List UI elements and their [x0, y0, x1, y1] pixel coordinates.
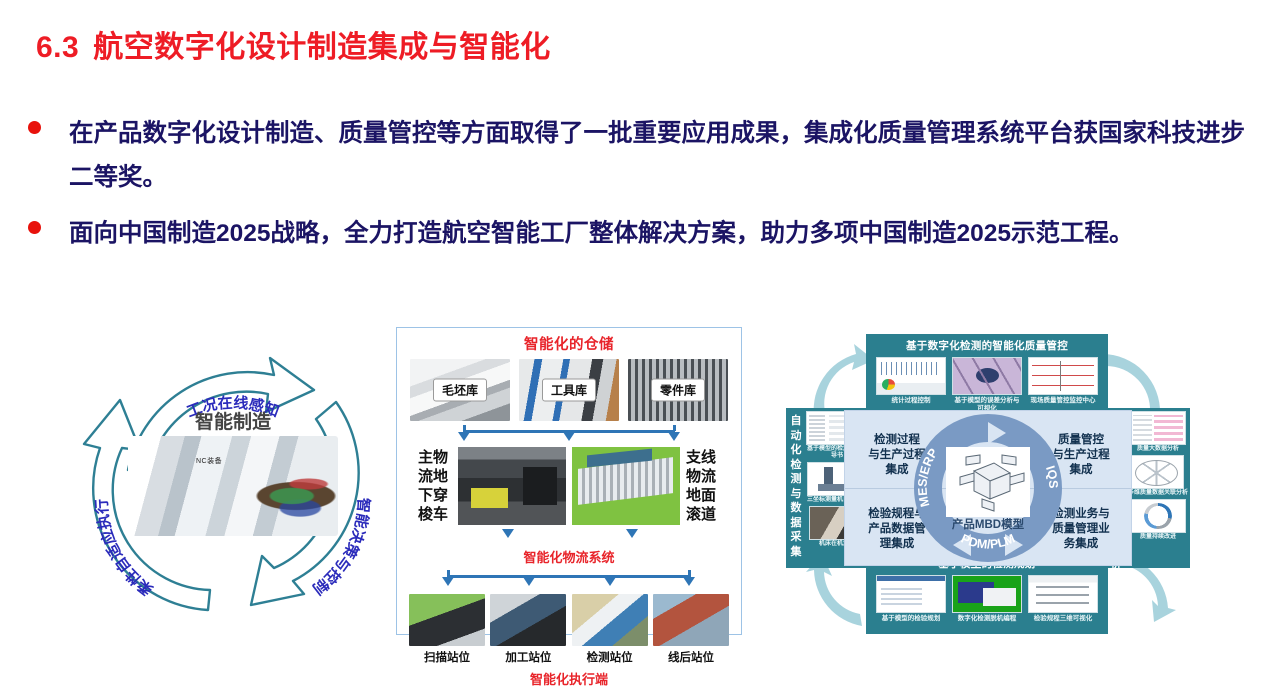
arrow-bus-bottom	[397, 570, 741, 592]
3d-visualization-photo	[1028, 575, 1098, 613]
station-photo	[490, 594, 566, 646]
ground-roller-photo	[572, 447, 680, 525]
storage-label: 零件库	[651, 379, 705, 402]
bottom-panel-thumb: 数字化检测脱机编程	[952, 575, 1022, 623]
station-photo	[409, 594, 485, 646]
correlation-network-photo	[1128, 455, 1184, 489]
logistics-row: 主物流地下穿梭车 支线物流地面滚道	[397, 447, 741, 525]
nc-machine-caption: NC装备	[196, 456, 222, 466]
continuous-improvement-photo	[1130, 499, 1186, 533]
bullet-item: 在产品数字化设计制造、质量管控等方面取得了一批重要应用成果，集成化质量管理系统平…	[28, 112, 1254, 200]
transport-left-label: 主物流地下穿梭车	[418, 448, 452, 524]
thumb-caption: 现场质量管控监控中心	[1028, 397, 1098, 405]
station-photo	[653, 594, 729, 646]
execution-end-title: 智能化执行端	[397, 669, 741, 688]
top-panel-thumb: 统计过程控制	[876, 357, 946, 413]
figure-smart-manufacturing-wheel: 工况在线感知 智能决策与控制 柔性自适应执行 智能制造 NC装备	[78, 328, 388, 638]
underground-shuttle-photo	[458, 447, 566, 525]
warehouse-title: 智能化的仓储	[397, 333, 741, 354]
storage-label: 工具库	[542, 379, 596, 402]
stations-row: 扫描站位 加工站位 检测站位 线后站位	[397, 594, 741, 665]
arrow-bus-top	[397, 425, 741, 447]
quality-top-panel: 基于数字化检测的智能化质量管控 统计过程控制 基于模型的误差分析与可视化 现场质…	[866, 334, 1108, 416]
storage-label: 毛坯库	[433, 379, 487, 402]
right-panel-thumb: 多维质量数据关联分析	[1128, 455, 1188, 497]
figure-quality-management-loop: 基于数字化检测的智能化质量管控 统计过程控制 基于模型的误差分析与可视化 现场质…	[778, 322, 1266, 642]
deviation-map-photo	[952, 357, 1022, 395]
thumb-caption: 多维质量数据关联分析	[1128, 490, 1188, 497]
monitor-center-photo	[1028, 357, 1098, 395]
thumb-caption: 数字化检测脱机编程	[952, 615, 1022, 623]
bullet-list: 在产品数字化设计制造、质量管控等方面取得了一批重要应用成果，集成化质量管理系统平…	[28, 112, 1254, 268]
station-label: 检测站位	[572, 649, 648, 665]
bullet-text: 在产品数字化设计制造、质量管控等方面取得了一批重要应用成果，集成化质量管理系统平…	[69, 112, 1254, 200]
quality-center-panel: 检测过程与生产过程集成 质量管控与生产过程集成 检验规程与产品数据管理集成 检测…	[844, 410, 1132, 566]
storage-row: 毛坯库 工具库 零件库	[397, 354, 741, 421]
nc-machine-photo	[128, 436, 338, 536]
left-panel-title: 自动化检测与数据采集	[786, 408, 806, 568]
storage-cell: 工具库	[519, 359, 619, 421]
logistics-system-title: 智能化物流系统	[397, 547, 741, 566]
mbd-model-label: 产品MBD模型	[952, 519, 1024, 531]
station-label: 扫描站位	[409, 649, 485, 665]
right-panel-thumb: 质量大数据分析	[1130, 411, 1186, 453]
station-photo	[572, 594, 648, 646]
storage-cell: 零件库	[628, 359, 728, 421]
page-title: 6.3航空数字化设计制造集成与智能化	[36, 22, 551, 66]
spc-chart-photo	[876, 357, 946, 395]
arrow-bus-mid	[397, 529, 741, 545]
station-label: 加工站位	[490, 649, 566, 665]
offline-programming-photo	[952, 575, 1022, 613]
mbd-model-label-wrap: 产品MBD模型	[845, 515, 1131, 533]
mbd-model-photo	[946, 447, 1030, 517]
station-item: 加工站位	[490, 594, 566, 665]
thumb-caption: 质量大数据分析	[1130, 446, 1186, 453]
bottom-panel-thumb: 检验规程三维可视化	[1028, 575, 1098, 623]
thumb-caption: 检验规程三维可视化	[1028, 615, 1098, 623]
title-number: 6.3	[36, 31, 79, 64]
transport-right-label: 支线物流地面滚道	[686, 448, 720, 524]
big-data-table-photo	[1130, 411, 1186, 445]
top-panel-thumb: 基于模型的误差分析与可视化	[952, 357, 1022, 413]
storage-cell: 毛坯库	[410, 359, 510, 421]
thumb-caption: 质量持续改进	[1130, 534, 1186, 541]
station-item: 扫描站位	[409, 594, 485, 665]
figures-row: 工况在线感知 智能决策与控制 柔性自适应执行 智能制造 NC装备 智能化的仓储 …	[0, 318, 1268, 658]
station-item: 检测站位	[572, 594, 648, 665]
top-panel-thumb: 现场质量管控监控中心	[1028, 357, 1098, 413]
title-text: 航空数字化设计制造集成与智能化	[93, 31, 551, 64]
station-item: 线后站位	[653, 594, 729, 665]
figure-smart-warehouse: 智能化的仓储 毛坯库 工具库 零件库 主物流地下穿梭车 支线物流地面滚道	[396, 327, 742, 635]
station-label: 线后站位	[653, 649, 729, 665]
thumb-caption: 统计过程控制	[876, 397, 946, 405]
top-panel-title: 基于数字化检测的智能化质量管控	[866, 334, 1108, 353]
thumb-caption: 基于模型的检验规划	[876, 615, 946, 623]
bullet-text: 面向中国制造2025战略，全力打造航空智能工厂整体解决方案，助力多项中国制造20…	[69, 212, 1134, 256]
bullet-marker-icon	[28, 221, 41, 234]
bottom-panel-thumb: 基于模型的检验规划	[876, 575, 946, 623]
bullet-marker-icon	[28, 121, 41, 134]
bullet-item: 面向中国制造2025战略，全力打造航空智能工厂整体解决方案，助力多项中国制造20…	[28, 212, 1254, 256]
right-panel-thumb: 质量持续改进	[1130, 499, 1186, 541]
wheel-center-label: 智能制造	[195, 410, 272, 433]
inspection-planning-photo	[876, 575, 946, 613]
